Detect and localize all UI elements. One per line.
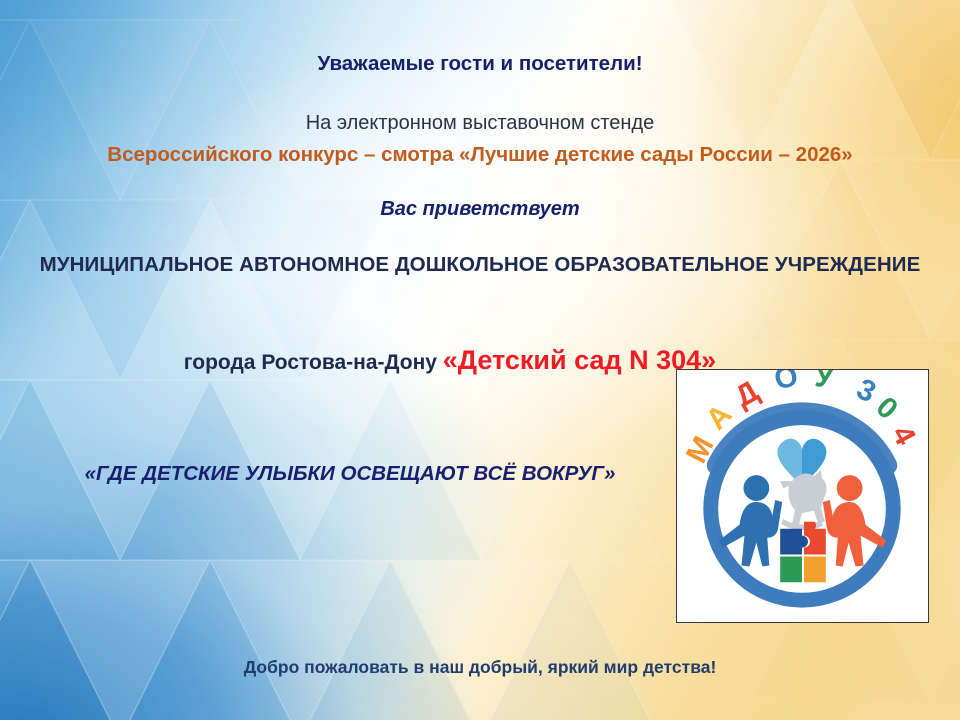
slogan-line: «ГДЕ ДЕТСКИЕ УЛЫБКИ ОСВЕЩАЮТ ВСЁ ВОКРУГ» xyxy=(0,462,700,486)
madou-304-logo: М А Д О У 3 0 4 xyxy=(676,369,929,623)
arc-letter-u: У xyxy=(813,370,835,395)
organization-name: МУНИЦИПАЛЬНОЕ АВТОНОМНОЕ ДОШКОЛЬНОЕ ОБРА… xyxy=(30,253,930,277)
puzzle-piece-bottom-left xyxy=(780,557,802,583)
stand-line: На электронном выставочном стенде xyxy=(0,112,960,136)
puzzle-piece-bottom-right xyxy=(804,557,826,583)
contest-title-line: Всероссийского конкурс – смотра «Лучшие … xyxy=(0,143,960,167)
presentation-slide: Уважаемые гости и посетители! На электро… xyxy=(0,0,960,720)
footer-line: Добро пожаловать в наш добрый, яркий мир… xyxy=(0,657,960,678)
arc-letter-0: 0 xyxy=(870,390,904,426)
arc-letter-3: 3 xyxy=(852,372,881,409)
arc-letter-4: 4 xyxy=(885,420,922,451)
arc-letter-o: О xyxy=(771,370,801,397)
city-prefix: города Ростова-на-Дону xyxy=(184,351,443,374)
welcome-line: Вас приветствует xyxy=(0,198,960,222)
greeting-line: Уважаемые гости и посетители! xyxy=(0,52,960,76)
arc-letter-d: Д xyxy=(729,375,764,414)
